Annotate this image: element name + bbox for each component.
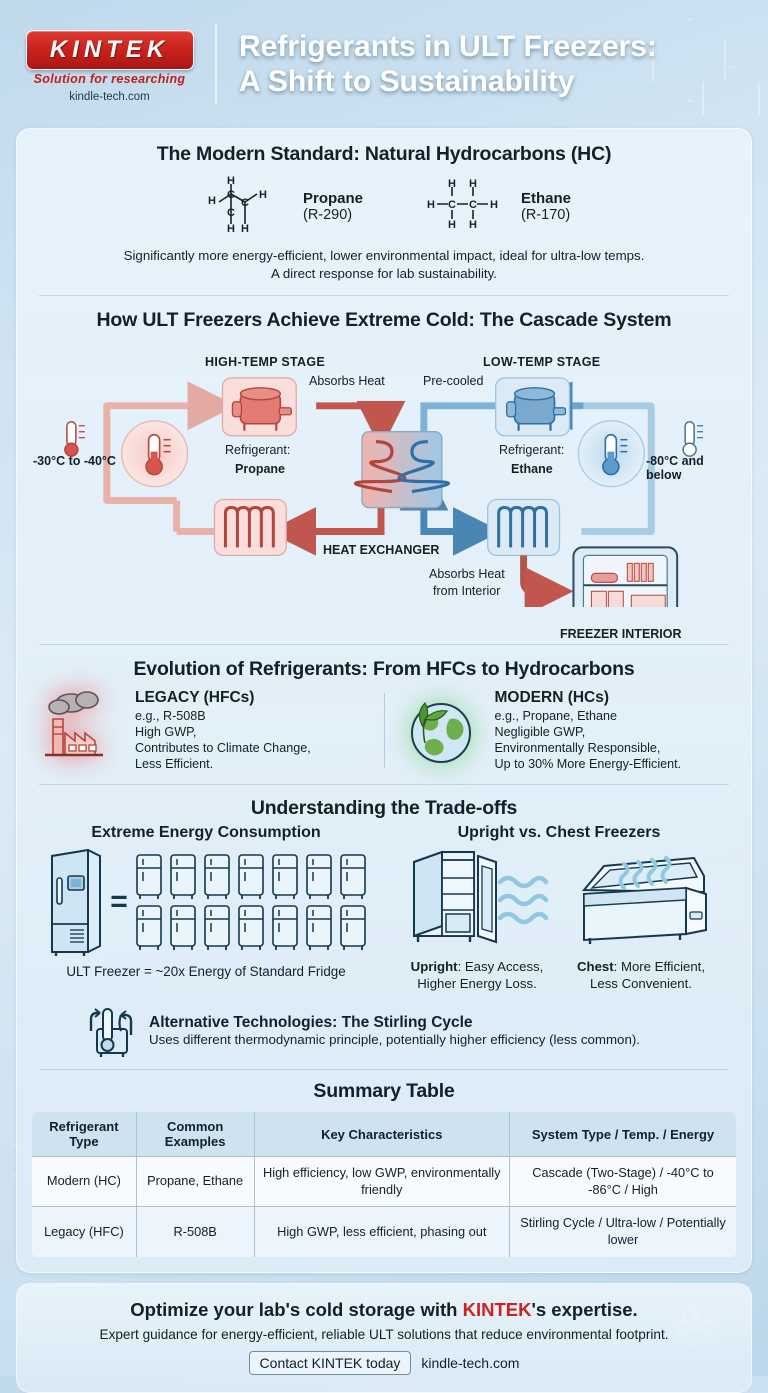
molecule-ethane: CC HH HH HH Ethane (R-170) [415,176,571,238]
low-refrigerant-label: Refrigerant: [499,443,564,457]
standard-fridge-icon [304,904,334,952]
table-cell: Cascade (Two-Stage) / -40°C to -86°C / H… [510,1157,737,1207]
svg-text:H: H [427,199,435,211]
logo-wordmark: KINTEK [50,36,169,64]
svg-text:H: H [469,178,477,190]
standard-fridge-icon [236,853,266,901]
svg-text:C: C [227,189,235,201]
svg-text:H: H [469,219,477,231]
standard-fridge-icon [304,853,334,901]
upright-line2: Higher Energy Loss. [402,976,552,993]
svg-text:H: H [490,199,498,211]
section-cascade: How ULT Freezers Achieve Extreme Cold: T… [17,296,751,618]
chest-bold: Chest [577,959,614,974]
energy-comparison-row: = [31,846,381,958]
upright-item: Upright: Easy Access, Higher Energy Loss… [402,846,552,993]
main-content-panel: The Modern Standard: Natural Hydrocarbon… [16,128,752,1273]
section-summary-table: Summary Table Refrigerant TypeCommon Exa… [17,1070,751,1272]
small-thermometer-left [65,422,85,456]
green-earth-icon [397,689,483,769]
legacy-heading: LEGACY (HFCs) [135,689,311,707]
tradeoffs-title: Understanding the Trade-offs [31,797,737,820]
energy-caption: ULT Freezer = ~20x Energy of Standard Fr… [31,964,381,979]
small-fridge-grid [134,853,368,952]
evolution-title: Evolution of Refrigerants: From HFCs to … [31,658,737,681]
molecule-row: CCC HHH HH Propane (R-290) [35,176,733,238]
ult-freezer-icon [44,846,104,958]
stirling-block: Alternative Technologies: The Stirling C… [31,1001,737,1059]
chest-rest: : More Efficient, [614,959,705,974]
footer-heading: Optimize your lab's cold storage with KI… [35,1299,733,1321]
chest-caption: Chest: More Efficient, Less Convenient. [566,959,716,993]
table-cell: Legacy (HFC) [32,1207,137,1257]
evolution-divider [384,693,385,768]
molecule-propane: CCC HHH HH Propane (R-290) [197,176,363,238]
factory-icon [37,689,123,765]
svg-text:H: H [448,178,456,190]
upright-chest-block: Upright vs. Chest Freezers [381,824,737,993]
chest-line2: Less Convenient. [566,976,716,993]
cascade-diagram: HIGH-TEMP STAGE LOW-TEMP STAGE Absorbs H… [27,336,741,608]
modern-line-1: Negligible GWP, [495,724,682,740]
footer-cta-panel: Optimize your lab's cold storage with KI… [16,1283,752,1393]
standard-fridge-icon [338,904,368,952]
summary-table: Refrigerant TypeCommon ExamplesKey Chara… [31,1111,737,1258]
upright-caption: Upright: Easy Access, Higher Energy Loss… [402,959,552,993]
page-title-line1: Refrigerants in ULT Freezers: [239,29,746,64]
logo-url: kindle-tech.com [69,91,150,103]
section-tradeoffs: Understanding the Trade-offs Extreme Ene… [17,785,751,1069]
upright-rest: : Easy Access, [458,959,544,974]
ethane-code: (R-170) [521,207,571,224]
upright-bold: Upright [411,959,458,974]
ethane-name: Ethane [521,190,571,207]
standard-fridge-icon [236,904,266,952]
pre-cooled-label: Pre-cooled [423,374,483,388]
stirling-heading: Alternative Technologies: The Stirling C… [149,1014,640,1032]
absorbs-interior-line1: Absorbs Heat [429,567,505,581]
table-header-row: Refrigerant TypeCommon ExamplesKey Chara… [32,1112,737,1157]
hydrocarbons-note: Significantly more energy-efficient, low… [35,247,733,283]
table-column-header: Common Examples [136,1112,254,1157]
energy-consumption-block: Extreme Energy Consumption [31,824,381,993]
standard-fridge-icon [168,853,198,901]
legacy-line-3: Less Efficient. [135,756,311,772]
svg-text:H: H [227,223,235,235]
upright-chest-subtitle: Upright vs. Chest Freezers [381,824,737,842]
propane-name: Propane [303,190,363,207]
propane-code: (R-290) [303,207,363,224]
summary-table-title: Summary Table [31,1080,737,1103]
table-column-header: Refrigerant Type [32,1112,137,1157]
upright-chest-row: Upright: Easy Access, Higher Energy Loss… [381,846,737,993]
chest-item: Chest: More Efficient, Less Convenient. [566,846,716,993]
svg-text:C: C [448,199,456,211]
page-title: Refrigerants in ULT Freezers: A Shift to… [239,29,746,99]
section-hydrocarbons: The Modern Standard: Natural Hydrocarbon… [17,129,751,295]
legacy-line-0: e.g., R-508B [135,708,311,724]
svg-text:H: H [241,223,249,235]
stirling-engine-icon [85,1001,137,1059]
footer-brand: KINTEK [463,1299,532,1320]
hc-note-line1: Significantly more energy-efficient, low… [35,247,733,265]
high-temp-stage-label: HIGH-TEMP STAGE [205,355,325,369]
standard-fridge-icon [134,904,164,952]
modern-line-3: Up to 30% More Energy-Efficient. [495,756,682,772]
evolution-modern: MODERN (HCs) e.g., Propane, Ethane Negli… [391,689,738,772]
logo-tagline: Solution for researching [34,72,186,86]
footer-cta-row: Contact KINTEK today kindle-tech.com [35,1351,733,1375]
high-temp-value: -30°C to -40°C [33,454,116,468]
standard-fridge-icon [270,853,300,901]
modern-line-2: Environmentally Responsible, [495,740,682,756]
page-header: KINTEK Solution for researching kindle-t… [0,0,768,128]
standard-fridge-icon [134,853,164,901]
heat-exchanger-label: HEAT EXCHANGER [323,543,439,557]
propane-structure-icon: CCC HHH HH [197,176,293,238]
footer-heading-pre: Optimize your lab's cold storage with [130,1299,462,1320]
low-temp-stage-label: LOW-TEMP STAGE [483,355,600,369]
standard-fridge-icon [202,853,232,901]
legacy-text: LEGACY (HFCs) e.g., R-508B High GWP, Con… [135,689,311,772]
cascade-title: How ULT Freezers Achieve Extreme Cold: T… [27,309,741,332]
modern-text: MODERN (HCs) e.g., Propane, Ethane Negli… [495,689,682,772]
table-cell: High efficiency, low GWP, environmentall… [254,1157,510,1207]
high-refrigerant-value: Propane [235,462,285,476]
modern-heading: MODERN (HCs) [495,689,682,707]
small-thermometer-right [683,422,703,456]
high-refrigerant-label: Refrigerant: [225,443,290,457]
absorbs-interior-line2: from Interior [433,584,500,598]
standard-fridge-icon [270,904,300,952]
section-evolution: Evolution of Refrigerants: From HFCs to … [17,645,751,784]
evolution-columns: LEGACY (HFCs) e.g., R-508B High GWP, Con… [31,689,737,772]
tradeoffs-columns: Extreme Energy Consumption [31,824,737,993]
brand-logo[interactable]: KINTEK Solution for researching kindle-t… [22,26,197,103]
low-temp-value: -80°C and below [646,454,741,482]
svg-text:C: C [469,199,477,211]
standard-fridge-icon [202,904,232,952]
table-row: Modern (HC)Propane, EthaneHigh efficienc… [32,1157,737,1207]
svg-text:H: H [208,195,216,207]
evolution-legacy: LEGACY (HFCs) e.g., R-508B High GWP, Con… [31,689,378,772]
footer-url[interactable]: kindle-tech.com [421,1355,519,1371]
table-cell: Propane, Ethane [136,1157,254,1207]
equals-sign: = [110,885,128,919]
legacy-line-1: High GWP, [135,724,311,740]
page-title-line2: A Shift to Sustainability [239,64,746,99]
logo-badge: KINTEK [26,30,194,70]
footer-heading-post: 's expertise. [531,1299,637,1320]
header-divider [215,24,217,104]
propane-label: Propane (R-290) [303,190,363,225]
ethane-label: Ethane (R-170) [521,190,571,225]
svg-text:H: H [259,189,267,201]
chest-freezer-icon [566,846,716,950]
standard-fridge-icon [168,904,198,952]
svg-text:C: C [241,197,249,209]
ethane-structure-icon: CC HH HH HH [415,176,511,238]
svg-text:H: H [448,219,456,231]
low-refrigerant-value: Ethane [511,462,553,476]
table-row: Legacy (HFC)R-508BHigh GWP, less efficie… [32,1207,737,1257]
modern-line-0: e.g., Propane, Ethane [495,708,682,724]
standard-fridge-icon [338,853,368,901]
upright-freezer-icon [402,846,552,950]
hc-note-line2: A direct response for lab sustainability… [35,265,733,283]
stirling-text: Alternative Technologies: The Stirling C… [149,1014,640,1047]
table-cell: High GWP, less efficient, phasing out [254,1207,510,1257]
absorbs-heat-label: Absorbs Heat [309,374,385,388]
table-cell: R-508B [136,1207,254,1257]
stirling-body: Uses different thermodynamic principle, … [149,1032,640,1047]
table-column-header: System Type / Temp. / Energy [510,1112,737,1157]
contact-kintek-button[interactable]: Contact KINTEK today [249,1351,412,1375]
energy-subtitle: Extreme Energy Consumption [31,824,381,842]
hydrocarbons-title: The Modern Standard: Natural Hydrocarbon… [35,143,733,166]
svg-text:C: C [227,207,235,219]
freezer-interior-label: FREEZER INTERIOR [560,627,682,641]
table-cell: Stirling Cycle / Ultra-low / Potentially… [510,1207,737,1257]
svg-text:H: H [227,176,235,187]
table-cell: Modern (HC) [32,1157,137,1207]
table-column-header: Key Characteristics [254,1112,510,1157]
legacy-line-2: Contributes to Climate Change, [135,740,311,756]
footer-body: Expert guidance for energy-efficient, re… [35,1327,733,1342]
